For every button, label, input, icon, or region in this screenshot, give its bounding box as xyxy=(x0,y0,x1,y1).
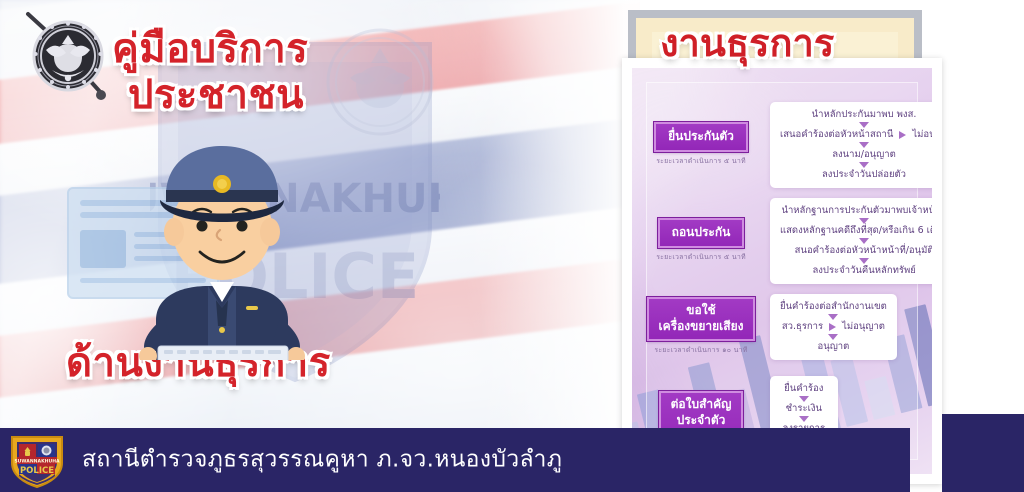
chip-line: เครื่องขยายเสียง xyxy=(659,319,744,335)
flow-step-branch: สว.ธุรการ ไม่อนุญาต xyxy=(780,321,887,333)
flow-row-label: ขอใช้ เครื่องขยายเสียง ระยะเวลาดำเนินการ… xyxy=(632,297,770,356)
flow-step: สนอคำร้องต่อหัวหน้าหน้าที่/อนุมัติ xyxy=(780,245,932,257)
chip-line: ต่อใบสำคัญ xyxy=(671,397,732,413)
arrow-down-icon xyxy=(859,258,869,264)
royal-thai-police-emblem-icon xyxy=(22,8,114,104)
flow-step: สว.ธุรการ xyxy=(782,321,823,333)
flow-step: เสนอคำร้องต่อหัวหน้าสถานี xyxy=(780,129,893,141)
flow-step: ยื่นคำร้อง xyxy=(780,383,828,395)
arrow-right-icon xyxy=(899,131,906,139)
flow-step: ลงประจำวันคืนหลักทรัพย์ xyxy=(780,265,932,277)
flow-step-branch: เสนอคำร้องต่อหัวหน้าสถานี ไม่อนุมัติ xyxy=(780,129,932,141)
flow-steps: นำหลักฐานการประกันตัวมาพบเจ้าหน้าที่ แสด… xyxy=(770,198,932,284)
flow-step: นำหลักประกันมาพบ พงส. xyxy=(780,109,932,121)
flow-step: ชำระเงิน xyxy=(780,403,828,415)
flow-row: ขอใช้ เครื่องขยายเสียง ระยะเวลาดำเนินการ… xyxy=(632,294,932,360)
service-chip[interactable]: ขอใช้ เครื่องขยายเสียง xyxy=(647,297,756,341)
service-chip[interactable]: ยื่นประกันตัว xyxy=(654,122,748,152)
arrow-down-icon xyxy=(859,162,869,168)
flow-step: ลงประจำวันปล่อยตัว xyxy=(780,169,932,181)
flow-step: แสดงหลักฐานคดีถึงที่สุด/หรือเกิน 6 เดือน xyxy=(780,225,932,237)
flow-step: อนุญาต xyxy=(780,341,887,353)
chip-line: ขอใช้ xyxy=(659,303,744,319)
processing-time-note: ระยะเวลาดำเนินการ ๕ นาที xyxy=(632,252,770,263)
arrow-down-icon xyxy=(799,416,809,422)
flow-row: ยื่นประกันตัว ระยะเวลาดำเนินการ ๕ นาที น… xyxy=(632,102,932,188)
headline-line-2: ประชาชน xyxy=(128,62,304,126)
chip-line: ประจำตัว xyxy=(671,413,732,429)
arrow-right-icon xyxy=(829,323,836,331)
flow-row: ถอนประกัน ระยะเวลาดำเนินการ ๕ นาที นำหลั… xyxy=(632,198,932,284)
arrow-down-icon xyxy=(828,314,838,320)
station-name: สถานีตำรวจภูธรสุวรรณคูหา ภ.จว.หนองบัวลำภ… xyxy=(82,441,562,477)
chip-line: ถอนประกัน xyxy=(672,225,731,241)
police-officer-at-computer-illustration xyxy=(60,130,390,360)
flow-steps: นำหลักประกันมาพบ พงส. เสนอคำร้องต่อหัวหน… xyxy=(770,102,932,188)
poster-canvas: SUWANNAKHUHA POLICE xyxy=(0,0,1024,492)
svg-text:POLICE: POLICE xyxy=(20,466,54,476)
service-chip[interactable]: ถอนประกัน xyxy=(658,218,745,248)
flow-step: ลงนาม/อนุญาต xyxy=(780,149,932,161)
poster-title: งานธุรการ xyxy=(660,12,834,73)
flow-steps: ยื่นคำร้องต่อสำนักงานเขต สว.ธุรการ ไม่อน… xyxy=(770,294,897,360)
branch-label: ไม่อนุญาต xyxy=(842,321,885,333)
service-flowchart-poster: ยื่นประกันตัว ระยะเวลาดำเนินการ ๕ นาที น… xyxy=(622,58,942,484)
arrow-down-icon xyxy=(859,218,869,224)
flow-row-label: ยื่นประกันตัว ระยะเวลาดำเนินการ ๕ นาที xyxy=(632,122,770,167)
arrow-down-icon xyxy=(859,238,869,244)
flow-step: นำหลักฐานการประกันตัวมาพบเจ้าหน้าที่ xyxy=(780,205,932,217)
garuda-seal-watermark-icon xyxy=(320,22,440,142)
arrow-down-icon xyxy=(859,122,869,128)
processing-time-note: ระยะเวลาดำเนินการ ๑๐ นาที xyxy=(632,345,770,356)
arrow-down-icon xyxy=(799,396,809,402)
arrow-down-icon xyxy=(828,334,838,340)
flow-step: ยื่นคำร้องต่อสำนักงานเขต xyxy=(780,301,887,313)
branch-label: ไม่อนุมัติ xyxy=(912,129,932,141)
arrow-down-icon xyxy=(859,142,869,148)
flow-row-label: ถอนประกัน ระยะเวลาดำเนินการ ๕ นาที xyxy=(632,218,770,263)
footer-bar: SUWANNAKHUHA POLICE สถานีตำรวจภูธรสุวรรณ… xyxy=(0,428,910,492)
chip-line: ยื่นประกันตัว xyxy=(668,129,734,145)
svg-text:SUWANNAKHUHA: SUWANNAKHUHA xyxy=(14,459,60,465)
suwannakhuha-police-badge-icon: SUWANNAKHUHA POLICE xyxy=(8,433,66,489)
processing-time-note: ระยะเวลาดำเนินการ ๕ นาที xyxy=(632,156,770,167)
footer-bar-right-block xyxy=(942,414,1024,492)
